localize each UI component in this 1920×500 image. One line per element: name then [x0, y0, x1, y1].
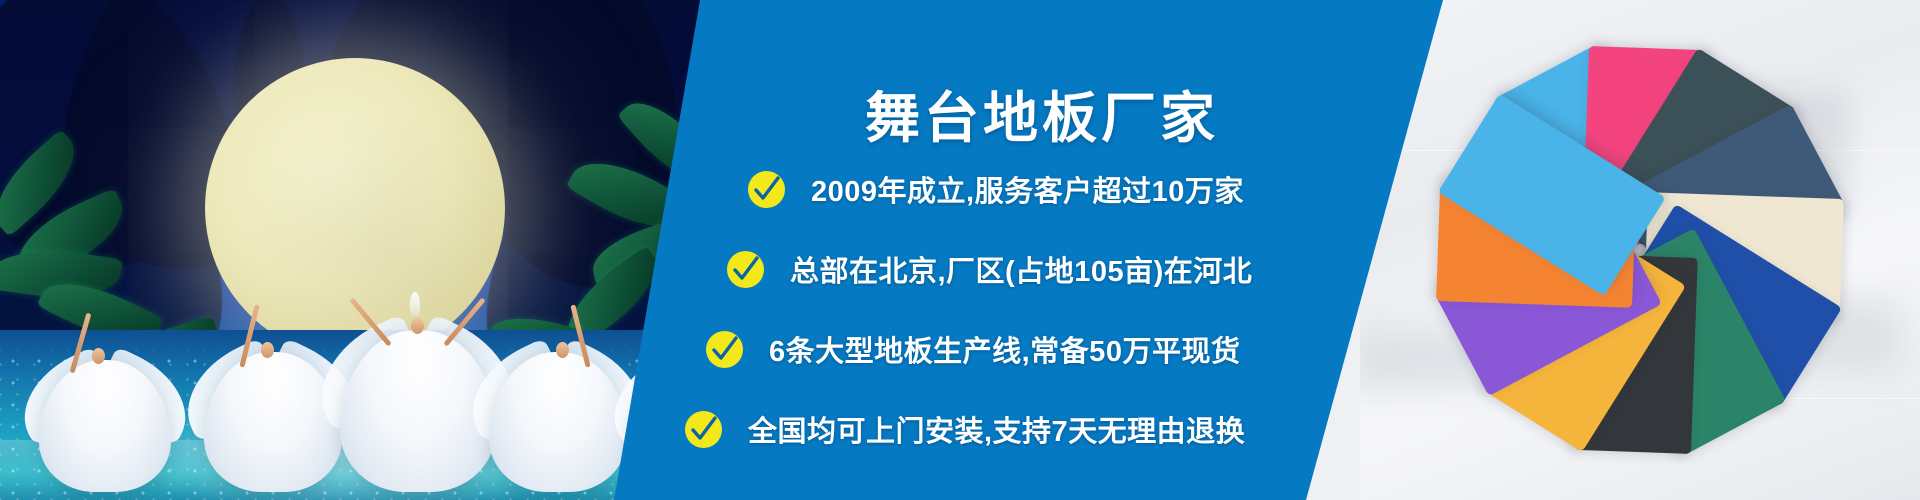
feature-item: 总部在北京,厂区(占地105亩)在河北	[727, 248, 1252, 290]
feature-text: 2009年成立,服务客户超过10万家	[811, 168, 1244, 210]
promo-banner: 舞台地板厂家 2009年成立,服务客户超过10万家总部在北京,厂区(占地105亩…	[0, 0, 1920, 500]
feature-text: 全国均可上门安装,支持7天无理由退换	[748, 408, 1245, 450]
feature-item: 2009年成立,服务客户超过10万家	[748, 168, 1244, 210]
feature-text: 总部在北京,厂区(占地105亩)在河北	[790, 248, 1252, 290]
feature-text: 6条大型地板生产线,常备50万平现货	[769, 328, 1240, 370]
check-circle-icon	[706, 331, 743, 368]
page-title: 舞台地板厂家	[865, 73, 1219, 153]
feature-item: 全国均可上门安装,支持7天无理由退换	[685, 408, 1245, 450]
check-circle-icon	[748, 171, 785, 208]
check-circle-icon	[727, 251, 764, 288]
check-circle-icon	[685, 411, 722, 448]
feature-item: 6条大型地板生产线,常备50万平现货	[706, 328, 1240, 370]
